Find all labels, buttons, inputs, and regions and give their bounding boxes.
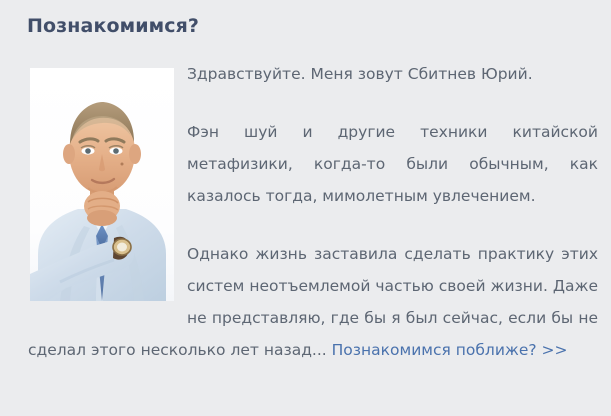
article-body: Здравствуйте. Меня зовут Сбитнев Юрий. Ф… [28, 58, 598, 366]
portrait-illustration [30, 68, 174, 301]
page-title: Познакомимся? [27, 14, 199, 38]
portrait-photo [30, 68, 174, 301]
page-root: Познакомимся? [0, 0, 611, 416]
get-acquainted-link[interactable]: Познакомимся поближе? >> [332, 341, 568, 359]
